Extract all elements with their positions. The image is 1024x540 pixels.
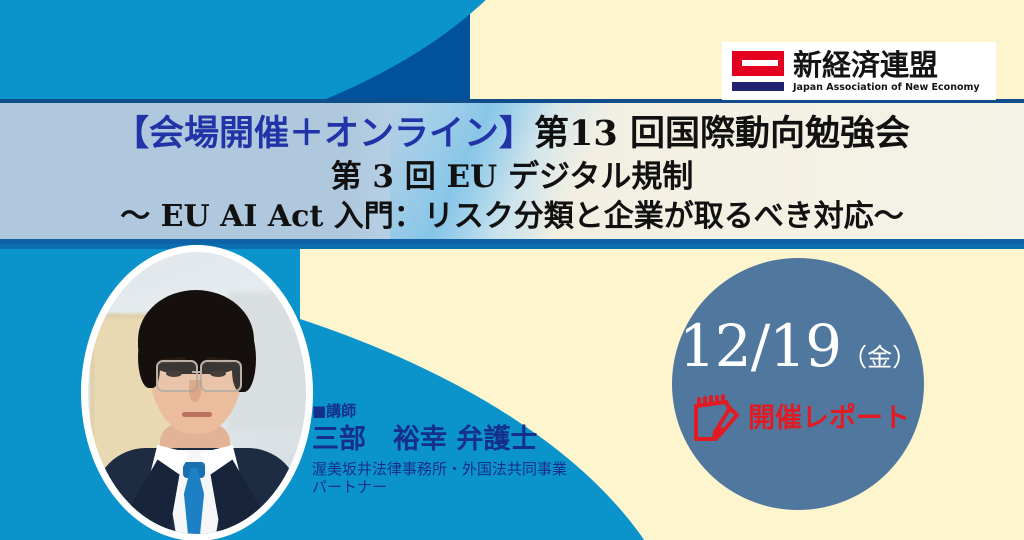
title-line-2: 第 3 回 EU デジタル規制 (0, 157, 1024, 197)
event-date-value: 12/19 (679, 315, 841, 377)
title-line-1-rest: 第13 回国際動向勉強会 (534, 113, 910, 154)
title-line-3: ～ EU AI Act 入門：リスク分類と企業が取るべき対応～ (0, 197, 1024, 237)
portrait-photo (88, 252, 306, 534)
logo-mark-icon (732, 51, 784, 91)
title-line-1: 【会場開催＋オンライン】第13 回国際動向勉強会 (0, 106, 1024, 157)
photo-nose (189, 380, 201, 402)
title-highlight: 【会場開催＋オンライン】 (114, 113, 534, 154)
report-label: 開催レポート (748, 404, 910, 434)
speaker-name: 三部 裕幸 弁護士 (312, 423, 642, 457)
speaker-label: ■講師 (312, 402, 642, 421)
page-title: 【会場開催＋オンライン】第13 回国際動向勉強会 第 3 回 EU デジタル規制… (0, 106, 1024, 242)
logo-name-jp: 新経済連盟 (793, 49, 986, 81)
event-date: 12/19 （金） (672, 315, 924, 383)
speaker-role: パートナー (312, 478, 642, 496)
notepad-pencil-icon (690, 392, 744, 446)
seminar-banner-page: 【会場開催＋オンライン】第13 回国際動向勉強会 第 3 回 EU デジタル規制… (0, 0, 1024, 540)
photo-glasses-right-lens (200, 360, 242, 392)
report-badge[interactable]: 開催レポート (690, 388, 910, 450)
speaker-firm: 渥美坂井法律事務所・外国法共同事業 (312, 460, 642, 478)
logo-name-en: Japan Association of New Economy (793, 82, 986, 94)
organization-logo: 新経済連盟 Japan Association of New Economy (722, 42, 996, 100)
logo-mark-navy-bar (732, 82, 784, 91)
event-date-day-of-week: （金） (842, 343, 917, 373)
speaker-info: ■講師 三部 裕幸 弁護士 渥美坂井法律事務所・外国法共同事業 パートナー (312, 402, 642, 496)
logo-mark-red-bar (732, 51, 784, 76)
logo-text: 新経済連盟 Japan Association of New Economy (793, 49, 986, 94)
speaker-portrait (88, 252, 306, 534)
photo-mouth (182, 412, 212, 417)
photo-glasses-bridge (192, 371, 202, 373)
date-circle (672, 258, 924, 510)
